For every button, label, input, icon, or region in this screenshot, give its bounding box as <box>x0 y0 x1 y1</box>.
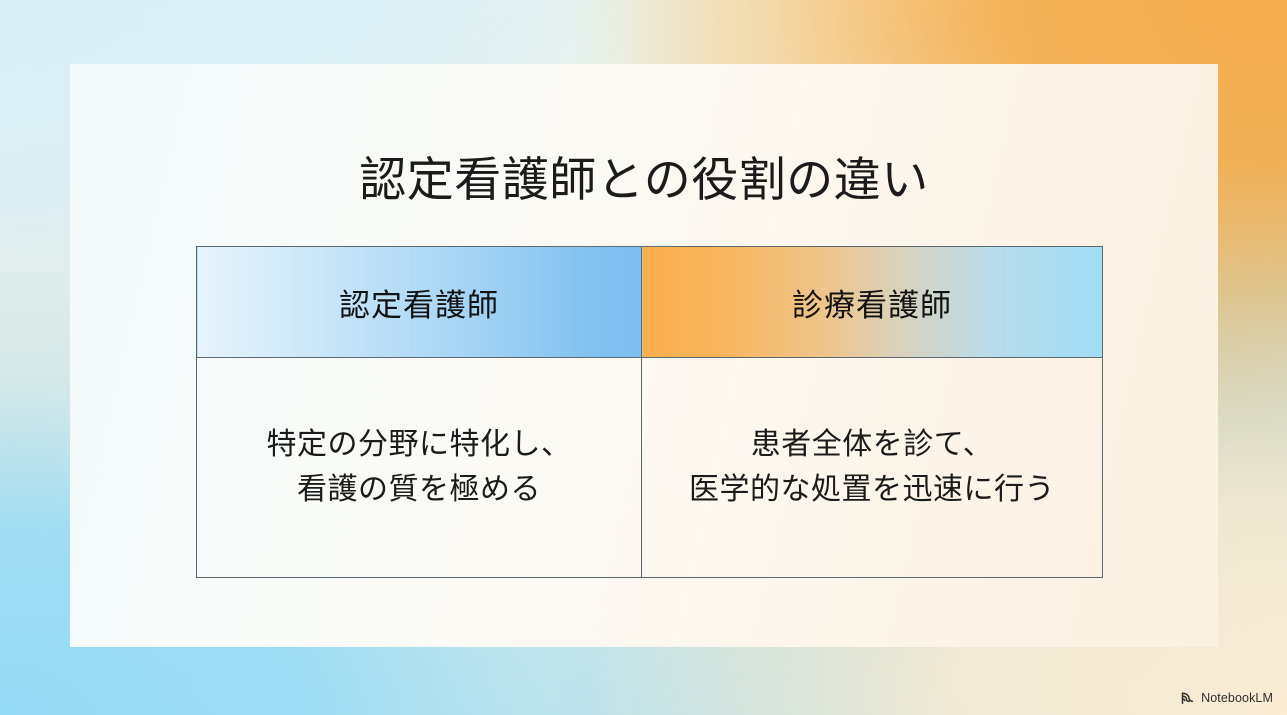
table-header-cell-certified-nurse: 認定看護師 <box>197 247 642 358</box>
slide-card: 認定看護師との役割の違い 認定看護師 診療看護師 特定の分野に特化し、 <box>70 64 1218 647</box>
cell-text-line: 患者全体を診て、 <box>642 423 1102 467</box>
notebooklm-label: NotebookLM <box>1201 691 1273 705</box>
table-cell-nurse-practitioner-description: 患者全体を診て、 医学的な処置を迅速に行う <box>642 358 1103 578</box>
table-cell-certified-nurse-description: 特定の分野に特化し、 看護の質を極める <box>197 358 642 578</box>
slide-root: 認定看護師との役割の違い 認定看護師 診療看護師 特定の分野に特化し、 <box>0 0 1287 715</box>
notebooklm-watermark: NotebookLM <box>1181 691 1273 705</box>
table-header-row: 認定看護師 診療看護師 <box>197 247 1103 358</box>
table-row: 特定の分野に特化し、 看護の質を極める 患者全体を診て、 医学的な処置を迅速に行… <box>197 358 1103 578</box>
table-header-label: 診療看護師 <box>792 288 952 323</box>
comparison-table: 認定看護師 診療看護師 特定の分野に特化し、 看護の質を極める 患者全体を診て、… <box>196 246 1103 578</box>
notebooklm-spiral-icon <box>1181 692 1196 705</box>
table-header-label: 認定看護師 <box>339 288 499 323</box>
cell-text-line: 医学的な処置を迅速に行う <box>642 468 1102 512</box>
page-title: 認定看護師との役割の違い <box>70 151 1218 210</box>
cell-text-line: 看護の質を極める <box>197 468 641 512</box>
cell-text-line: 特定の分野に特化し、 <box>197 423 641 467</box>
table-header-cell-nurse-practitioner: 診療看護師 <box>642 247 1103 358</box>
